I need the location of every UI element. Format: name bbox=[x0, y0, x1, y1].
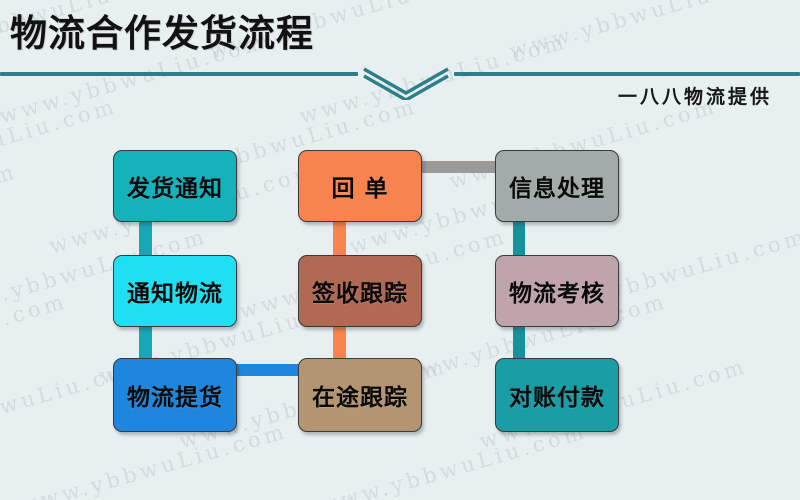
node-duizhang-fukuan[interactable]: 对账付款 bbox=[495, 358, 619, 432]
node-wuliu-kaohe[interactable]: 物流考核 bbox=[495, 255, 619, 327]
node-wuliu-tihuo[interactable]: 物流提货 bbox=[113, 358, 237, 432]
node-label: 物流提货 bbox=[127, 378, 223, 412]
node-fahuo-tongzhi[interactable]: 发货通知 bbox=[113, 150, 237, 222]
node-label: 物流考核 bbox=[509, 274, 605, 308]
subtitle: 一八八物流提供 bbox=[618, 82, 772, 109]
connector-c1r3-c2r3 bbox=[230, 364, 306, 376]
node-label: 通知物流 bbox=[127, 274, 223, 308]
double-chevron-down-icon bbox=[356, 60, 456, 100]
node-label: 回 单 bbox=[331, 169, 388, 203]
connector-c2r1-c3r1 bbox=[418, 161, 503, 173]
node-label: 信息处理 bbox=[509, 169, 605, 203]
header-rule-right bbox=[454, 72, 800, 76]
node-xinxi-chuli[interactable]: 信息处理 bbox=[495, 150, 619, 222]
node-label: 在途跟踪 bbox=[312, 378, 408, 412]
header-rule-left bbox=[0, 72, 358, 76]
node-label: 签收跟踪 bbox=[312, 274, 408, 308]
node-label: 发货通知 bbox=[127, 169, 223, 203]
node-huidan[interactable]: 回 单 bbox=[298, 150, 422, 222]
node-tongzhi-wuliu[interactable]: 通知物流 bbox=[113, 255, 237, 327]
node-qianshou-genzong[interactable]: 签收跟踪 bbox=[298, 255, 422, 327]
slide-canvas: www.ybbwuLiu.comwww.ybbwuLiu.comwww.ybbw… bbox=[0, 0, 800, 500]
page-title: 物流合作发货流程 bbox=[10, 12, 314, 56]
node-zaitu-genzong[interactable]: 在途跟踪 bbox=[298, 358, 422, 432]
slide-header: 物流合作发货流程 一八八物流提供 bbox=[0, 0, 800, 118]
node-label: 对账付款 bbox=[509, 378, 605, 412]
